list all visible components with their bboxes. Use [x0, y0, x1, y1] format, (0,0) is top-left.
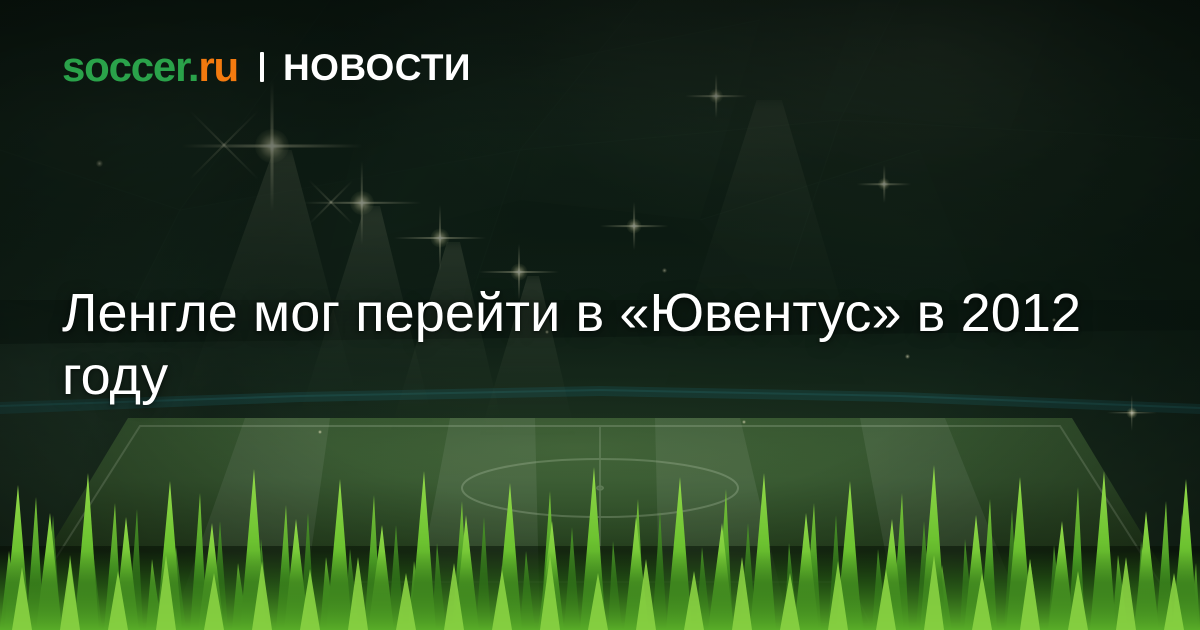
- page-title: Ленгле мог перейти в «Ювентус» в 2012 го…: [62, 282, 1122, 408]
- soccer-ru-logo[interactable]: soccer.ru: [62, 46, 238, 88]
- social-share-card: soccer.ru НОВОСТИ Ленгле мог перейти в «…: [0, 0, 1200, 630]
- logo-dot: .: [188, 43, 198, 90]
- vertical-bar-icon: [260, 52, 264, 82]
- section-label: НОВОСТИ: [283, 49, 471, 86]
- card-content: soccer.ru НОВОСТИ Ленгле мог перейти в «…: [0, 0, 1200, 630]
- logo-ru-text: ru: [198, 43, 238, 90]
- logo-soccer-text: soccer: [62, 43, 188, 90]
- brand-bar[interactable]: soccer.ru НОВОСТИ: [62, 46, 471, 88]
